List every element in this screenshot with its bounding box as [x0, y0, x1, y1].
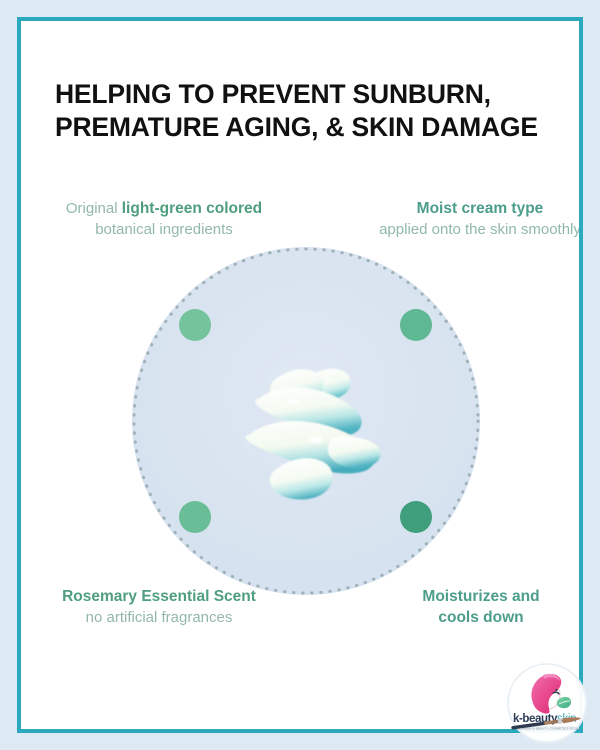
feature-top-right-soft: applied onto the skin smoothly: [366, 219, 579, 240]
node-dot-bottom-left: [179, 501, 211, 533]
feature-label-top-left: Original light-green colored botanical i…: [49, 198, 279, 240]
page-title: HELPING TO PREVENT SUNBURN, PREMATURE AG…: [55, 78, 565, 144]
feature-bottom-right-soft: cools down: [376, 607, 579, 628]
feature-bottom-left-strong: Rosemary Essential Scent: [39, 586, 279, 607]
node-dot-top-left: [179, 309, 211, 341]
feature-top-left-soft: botanical ingredients: [49, 219, 279, 240]
brand-logo: k-beauty skin WORLDWIDE K-BEAUTY COSMETI…: [503, 659, 591, 747]
poster-canvas: HELPING TO PREVENT SUNBURN, PREMATURE AG…: [21, 21, 579, 729]
node-dot-bottom-right: [400, 501, 432, 533]
center-circle-group: [132, 247, 480, 595]
feature-bottom-right-strong: Moisturizes and: [376, 586, 579, 607]
node-dot-top-right: [400, 309, 432, 341]
feature-label-top-right: Moist cream type applied onto the skin s…: [366, 198, 579, 240]
feature-top-left-strong: light-green colored: [122, 200, 262, 217]
headline-line-2: PREMATURE AGING, & SKIN DAMAGE: [55, 111, 565, 144]
feature-bottom-left-soft: no artificial fragrances: [39, 607, 279, 628]
feature-top-right-strong: Moist cream type: [366, 198, 579, 219]
headline-line-1: HELPING TO PREVENT SUNBURN,: [55, 78, 565, 111]
infographic-poster: HELPING TO PREVENT SUNBURN, PREMATURE AG…: [0, 0, 600, 750]
feature-top-left-line-1: Original light-green colored: [49, 198, 279, 219]
feature-label-bottom-left: Rosemary Essential Scent no artificial f…: [39, 586, 279, 628]
feature-label-bottom-right: Moisturizes and cools down: [376, 586, 579, 628]
feature-top-left-prefix: Original: [66, 200, 122, 217]
cream-swatch-image: [230, 342, 390, 502]
